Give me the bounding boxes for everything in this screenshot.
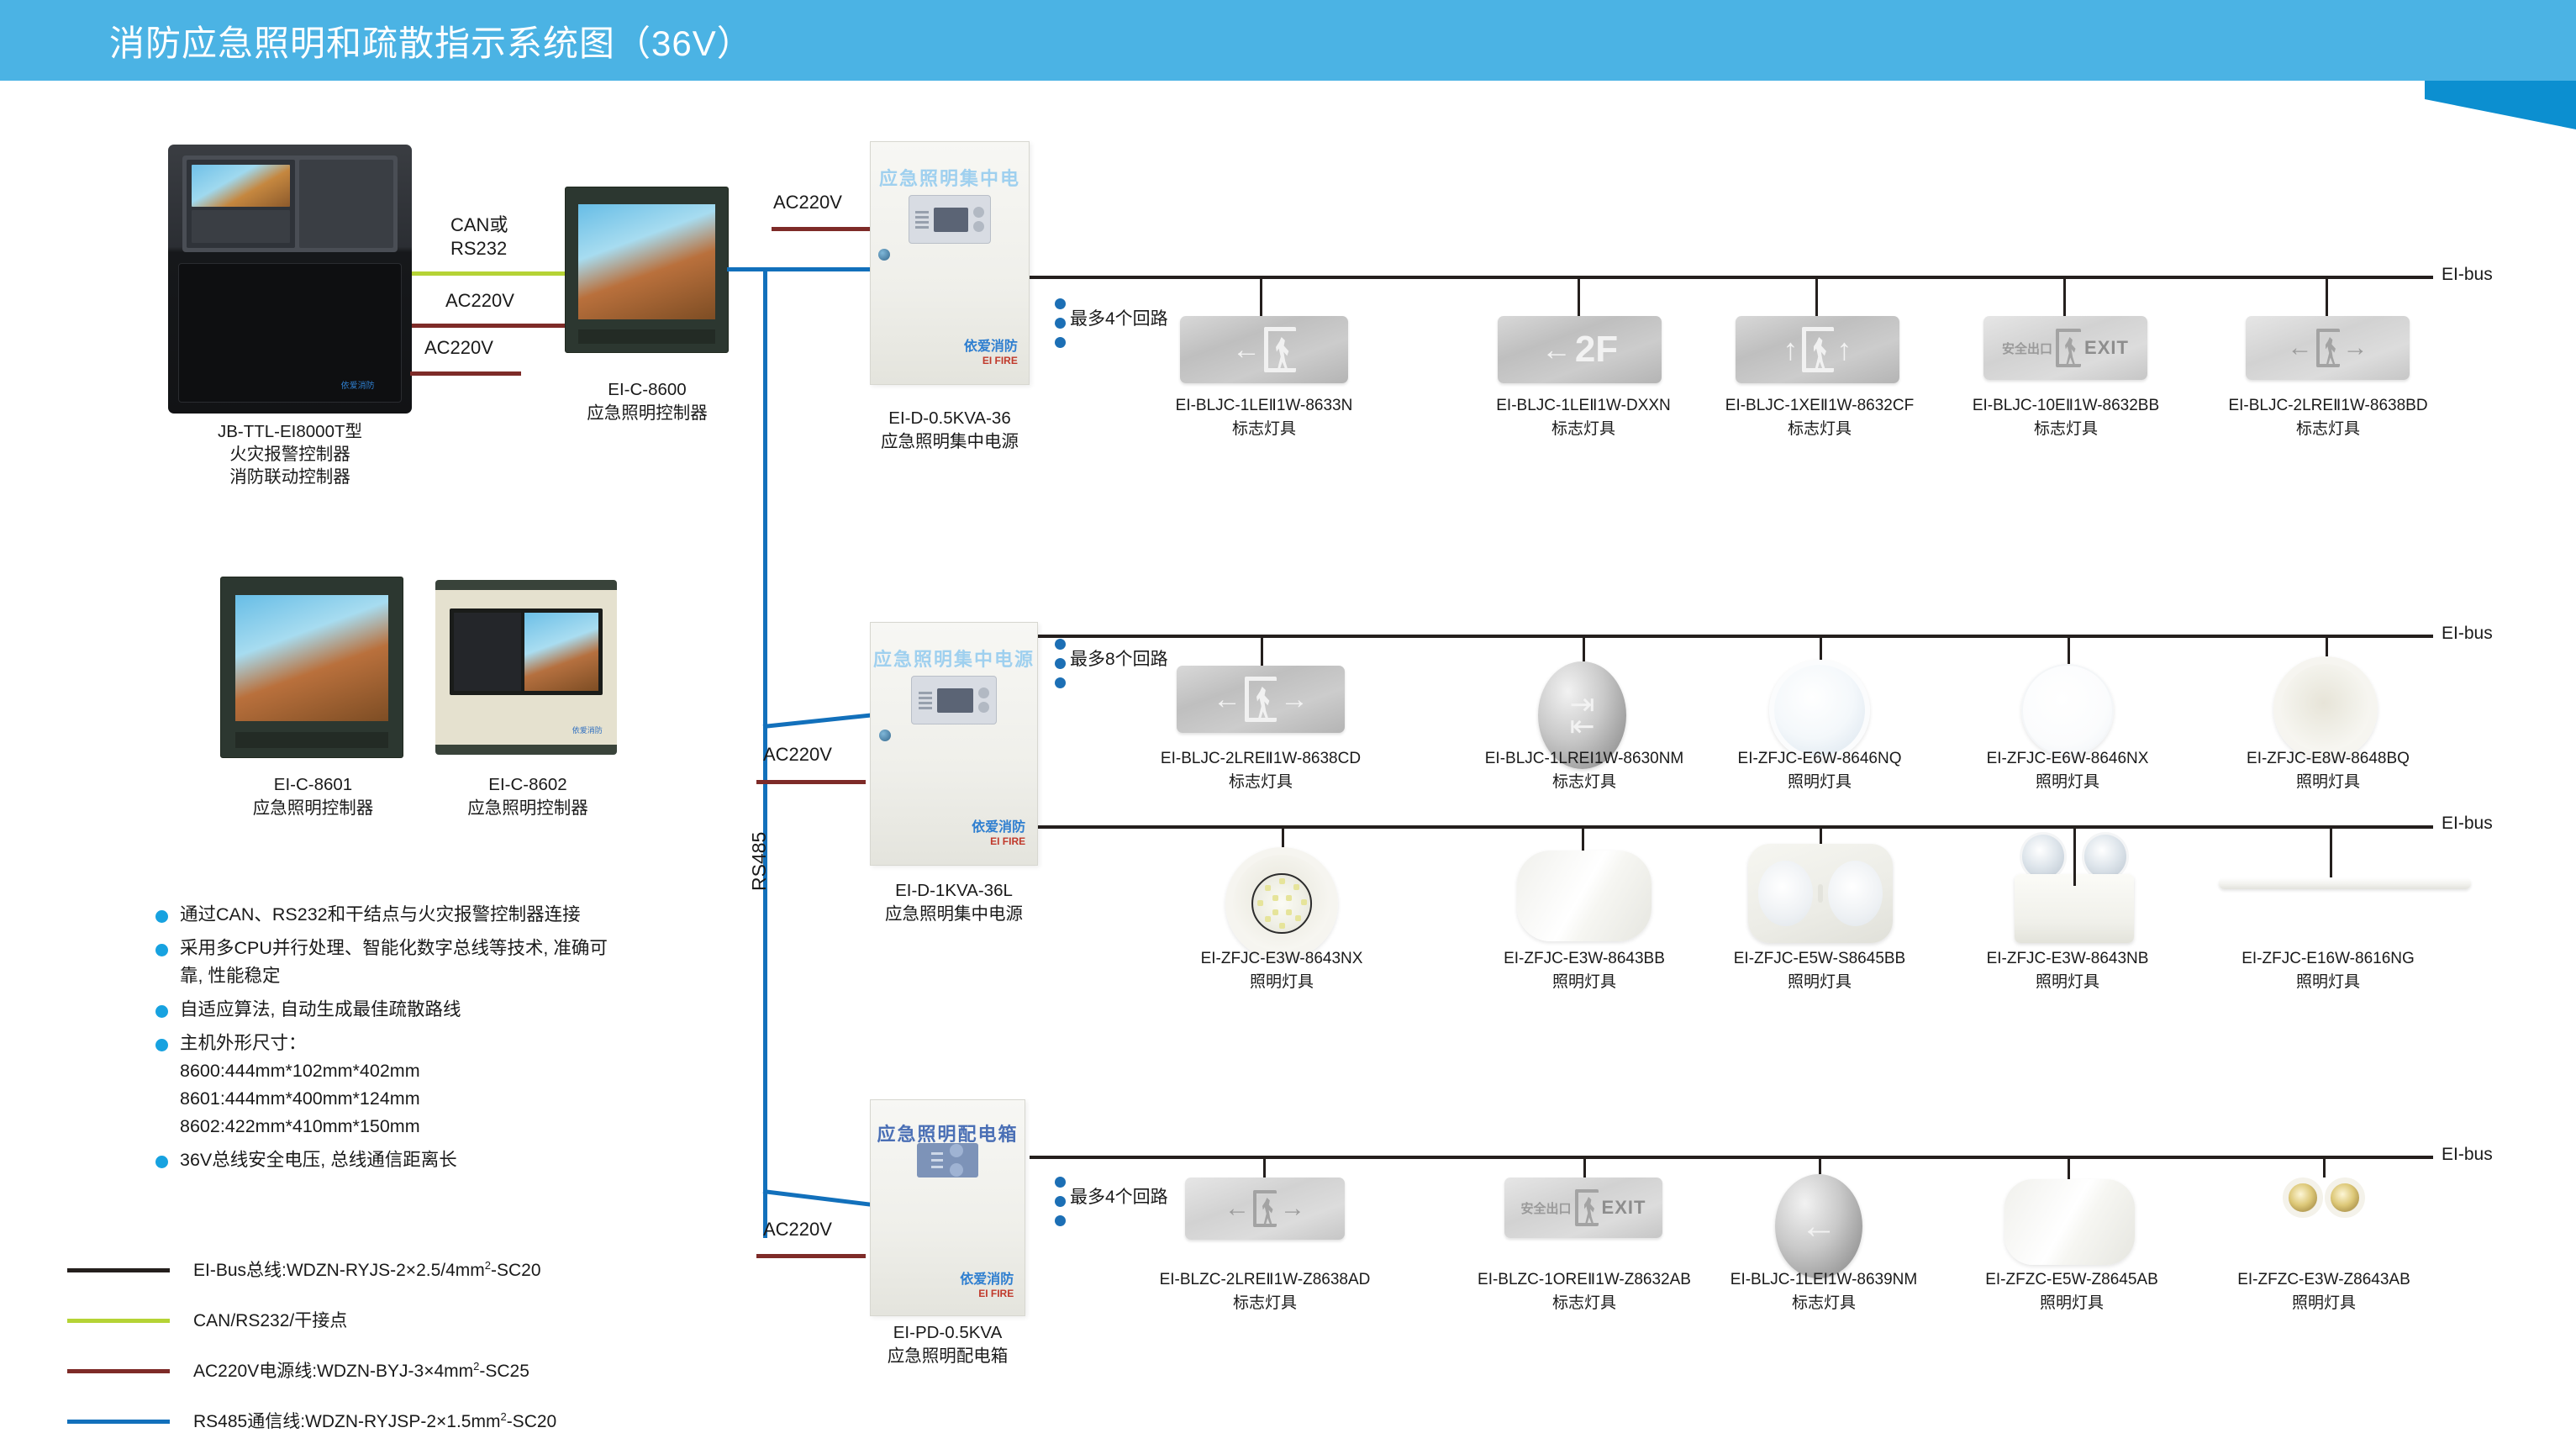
twin-eye-lamp-icon [1748, 844, 1893, 943]
controller-8600-screen [578, 204, 714, 319]
pd-button-group[interactable] [950, 1144, 963, 1177]
lamp-eye-right [1828, 861, 1883, 926]
drop-wire [2323, 1156, 2326, 1177]
fixture-row3-1-model: EI-ZFJC-E3W-8643NX [1147, 948, 1416, 970]
drop-wire [2068, 1156, 2070, 1179]
can-rs232-label-line2: RS232 [450, 238, 507, 260]
drop-wire [1583, 635, 1585, 661]
legend: EI-Bus总线:WDZN-RYJS-2×2.5/4mm2-SC20 CAN/R… [67, 1250, 824, 1433]
rs485-branch-ps2 [763, 713, 877, 729]
cabinet-module-bank [299, 160, 392, 248]
fixture-row4-5-type: 照明灯具 [2189, 1293, 2458, 1314]
gold-bulb-left [2283, 1177, 2323, 1218]
cabinet-keypad [192, 210, 290, 243]
brand-logo: 依爱消防 EI FIRE [964, 340, 1018, 367]
cabinet-upper-section [182, 155, 397, 252]
controller-8602-display [524, 613, 598, 691]
ei-bus-label-row3: EI-bus [2442, 814, 2493, 834]
ps2-control-face [911, 676, 998, 724]
legend-row-ei-bus: EI-Bus总线:WDZN-RYJS-2×2.5/4mm2-SC20 [67, 1250, 824, 1300]
legend-swatch-rs485 [67, 1420, 170, 1424]
drop-wire [2326, 635, 2328, 656]
exit-sign-safety-exit-icon: 安全出口 EXIT [1983, 316, 2147, 380]
fixture-row4-2-type: 标志灯具 [1441, 1293, 1727, 1314]
gold-bulb-right [2325, 1177, 2365, 1218]
drop-wire [2073, 825, 2076, 886]
legend-swatch-can [67, 1319, 170, 1323]
fixture-row2-5-model: EI-ZFJC-E8W-8648BQ [2194, 748, 2463, 770]
controller-8602-model: EI-C-8602 [427, 773, 629, 796]
fixture-row3-3-model: EI-ZFJC-E5W-S8645BB [1685, 948, 1954, 970]
drop-wire [2063, 276, 2066, 316]
drop-wire [2330, 825, 2332, 877]
pd-model: EI-PD-0.5KVA [857, 1321, 1038, 1344]
fixture-row4-1-model: EI-BLZC-2LREⅡ1W-Z8638AD [1122, 1269, 1408, 1291]
fixture-row4-4-type: 照明灯具 [1937, 1293, 2206, 1314]
drop-wire [1260, 276, 1262, 316]
feature-sub-8600: 8600:444mm*102mm*402mm [180, 1057, 710, 1085]
round-led-array-lamp-icon [1225, 847, 1338, 960]
emergency-power-supply-1kva: 应急照明集中电源 依爱消防 EI FIRE [870, 622, 1038, 866]
pd-led-group [931, 1152, 943, 1168]
fixture-row4-4-model: EI-ZFZC-E5W-Z8645AB [1937, 1269, 2206, 1291]
fixture-row1-2-model: EI-BLJC-1LEⅡ1W-DXXN [1449, 395, 1718, 417]
bullet-dot-icon [155, 1156, 168, 1168]
legend-swatch-ei-bus [67, 1268, 170, 1272]
ps1-control-face [909, 195, 991, 244]
pill-wall-lamp-icon [1517, 851, 1651, 941]
diagram-canvas: 消防应急照明和疏散指示系统图（36V） 依爱消防 JB-TTL-EI8000T型… [0, 0, 2576, 1433]
legend-text-pre: AC220V电源线:WDZN-BYJ-3×4mm [193, 1362, 473, 1381]
fixture-row2-5-type: 照明灯具 [2194, 772, 2463, 793]
feature-sub-8601: 8601:444mm*400mm*124mm [180, 1085, 710, 1113]
ribbon-decoration [2425, 81, 2576, 129]
exit-sign-both-arrows-icon: ← → [1185, 1177, 1345, 1240]
controller-8602-panel-face [450, 608, 602, 695]
legend-text-sup: 2 [485, 1259, 491, 1272]
brand-name-en: EI FIRE [990, 835, 1025, 847]
legend-text-post: -SC20 [491, 1261, 541, 1280]
loop-count-text: 最多4个回路 [1070, 305, 1168, 330]
pd-desc: 应急照明配电箱 [857, 1345, 1038, 1367]
feature-text-continued: 靠, 性能稳定 [180, 962, 710, 990]
brand-logo: 依爱消防 EI FIRE [972, 821, 1025, 848]
controller-8601-desc: 应急照明控制器 [210, 797, 416, 819]
fixture-row2-3-model: EI-ZFJC-E6W-8646NQ [1685, 748, 1954, 770]
ei-bus-label-row2: EI-bus [2442, 624, 2493, 644]
fire-panel-desc-2: 消防联动控制器 [168, 466, 412, 488]
exit-sign-both-arrows-icon: ← → [1177, 666, 1345, 733]
drop-wire [1815, 276, 1818, 316]
emergency-lighting-controller-8600 [565, 187, 729, 353]
feature-list: 通过CAN、RS232和干结点与火灾报警控制器连接 采用多CPU并行处理、智能化… [155, 901, 710, 1180]
ei-bus-line-row3 [1038, 825, 2433, 829]
emergency-lighting-distribution-box: 应急照明配电箱 依爱消防 EI FIRE [870, 1099, 1025, 1316]
controller-8601-model: EI-C-8601 [210, 773, 416, 796]
controller-8600-indicator-bar [578, 329, 714, 345]
ps2-lcd-screen [937, 688, 972, 713]
feature-text: 主机外形尺寸： [180, 1030, 710, 1057]
tube-lamp-icon [2219, 877, 2471, 889]
fixture-row4-5-model: EI-ZFZC-E3W-Z8643AB [2189, 1269, 2458, 1291]
fixture-row2-4-model: EI-ZFJC-E6W-8646NX [1933, 748, 2202, 770]
fixture-row4-3-model: EI-BLJC-1LEI1W-8639NM [1689, 1269, 1958, 1291]
ac220v-line-ps1 [772, 227, 881, 231]
ps2-face-title: 应急照明集中电源 [871, 645, 1037, 672]
legend-swatch-ac220v [67, 1369, 170, 1373]
fixture-row1-5-type: 标志灯具 [2194, 419, 2463, 440]
brand-name-cn: 依爱消防 [964, 340, 1018, 354]
legend-label-can: CAN/RS232/干接点 [193, 1307, 347, 1332]
ei-bus-label-row4: EI-bus [2442, 1145, 2493, 1165]
ps1-model: EI-D-0.5KVA-36 [857, 407, 1042, 429]
exit-sign-left-arrow-icon: ← [1180, 316, 1348, 383]
feature-text: 采用多CPU并行处理、智能化数字总线等技术, 准确可 [180, 935, 710, 962]
bullet-dot-icon [155, 944, 168, 956]
bullet-dot-icon [155, 1039, 168, 1051]
legend-text-pre: CAN/RS232/干接点 [193, 1311, 347, 1330]
drop-wire [1820, 635, 1822, 660]
emergency-power-supply-0p5kva: 应急照明集中电源 依爱消防 EI FIRE [870, 141, 1030, 385]
round-ceiling-lamp-icon [1769, 660, 1870, 761]
exit-sign-both-arrows-icon: ← → [2246, 316, 2410, 380]
fixture-row3-1-type: 照明灯具 [1147, 972, 1416, 993]
ps2-door-lock[interactable] [879, 730, 891, 741]
legend-label-ac220v: AC220V电源线:WDZN-BYJ-3×4mm2-SC25 [193, 1357, 529, 1383]
fixture-row1-3-type: 标志灯具 [1685, 419, 1954, 440]
fixture-row3-5-type: 照明灯具 [2194, 972, 2463, 993]
controller-8602-keypad [454, 613, 521, 691]
feature-sub-8602: 8602:422mm*410mm*150mm [180, 1113, 710, 1141]
page-title: 消防应急照明和疏散指示系统图（36V） [109, 15, 753, 66]
drop-wire [2068, 635, 2070, 664]
emergency-lighting-controller-8602: 依爱消防 [435, 580, 617, 755]
ps1-desc: 应急照明集中电源 [857, 430, 1042, 453]
controller-8602-desc: 应急照明控制器 [427, 797, 629, 819]
led-array [1251, 873, 1312, 934]
loop-count-text: 最多4个回路 [1070, 1183, 1168, 1209]
ei-bus-line-row1 [1030, 276, 2433, 279]
ps2-button-group[interactable] [978, 688, 989, 713]
fixture-row1-4-model: EI-BLJC-10EⅡ1W-8632BB [1931, 395, 2200, 417]
drop-wire [1820, 825, 1822, 844]
ac220v-line-8600 [412, 324, 567, 328]
controller-8601-indicator-bar [235, 732, 387, 748]
fixture-row2-1-type: 标志灯具 [1126, 772, 1395, 793]
ei-bus-line-row2 [1038, 635, 2433, 638]
bullet-dot-icon [155, 910, 168, 923]
controller-8601-screen [235, 595, 387, 721]
feature-item: 主机外形尺寸： 8600:444mm*102mm*402mm 8601:444m… [155, 1030, 710, 1141]
legend-row-ac220v: AC220V电源线:WDZN-BYJ-3×4mm2-SC25 [67, 1351, 824, 1401]
feature-text: 通过CAN、RS232和干结点与火灾报警控制器连接 [180, 901, 710, 929]
brand-logo: 依爱消防 [341, 378, 375, 391]
fixture-row2-2-type: 标志灯具 [1450, 772, 1719, 793]
bullet-dot-icon [155, 1005, 168, 1018]
ac220v-label-8600: AC220V [445, 290, 514, 312]
feature-item: 采用多CPU并行处理、智能化数字总线等技术, 准确可 靠, 性能稳定 [155, 935, 710, 990]
legend-label-rs485: RS485通信线:WDZN-RYJSP-2×1.5mm2-SC20 [193, 1408, 556, 1433]
fixture-row1-1-model: EI-BLJC-1LEⅡ1W-8633N [1130, 395, 1399, 417]
exit-sign-up-arrows-icon: ↑ ↑ [1736, 316, 1899, 383]
feature-text: 自适应算法, 自动生成最佳疏散路线 [180, 996, 710, 1024]
fixture-row3-4-model: EI-ZFJC-E3W-8643NB [1933, 948, 2202, 970]
feature-text: 36V总线安全电压, 总线通信距离长 [180, 1146, 710, 1174]
controller-8600-desc: 应急照明控制器 [546, 402, 748, 424]
feature-item: 自适应算法, 自动生成最佳疏散路线 [155, 996, 710, 1024]
fixture-row2-3-type: 照明灯具 [1685, 772, 1954, 793]
round-flat-lamp-icon [2021, 664, 2114, 756]
ps2-model: EI-D-1KVA-36L [853, 879, 1055, 902]
lamp-center-button [1818, 884, 1823, 903]
rs485-branch-pd [763, 1189, 877, 1207]
legend-text-post: -SC25 [479, 1362, 529, 1381]
fixture-row1-2-type: 标志灯具 [1449, 419, 1718, 440]
legend-text-pre: RS485通信线:WDZN-RYJSP-2×1.5mm [193, 1412, 500, 1431]
legend-row-can: CAN/RS232/干接点 [67, 1300, 824, 1351]
brand-logo: 依爱消防 EI FIRE [960, 1273, 1014, 1300]
fire-panel-model: JB-TTL-EI8000T型 [168, 420, 412, 443]
fire-alarm-control-cabinet: 依爱消防 [168, 145, 412, 414]
feature-item: 通过CAN、RS232和干结点与火灾报警控制器连接 [155, 901, 710, 929]
feature-item: 36V总线安全电压, 总线通信距离长 [155, 1146, 710, 1174]
drop-wire [1582, 825, 1584, 851]
brand-name-en: EI FIRE [982, 355, 1018, 366]
pd-control-face [917, 1143, 978, 1177]
drop-wire [1261, 635, 1263, 666]
controller-8600-model: EI-C-8600 [546, 378, 748, 401]
ps1-lcd-screen [934, 208, 967, 232]
ac220v-line-ps2 [756, 780, 866, 784]
drop-wire [1282, 825, 1284, 847]
fixture-row4-1-type: 标志灯具 [1122, 1293, 1408, 1314]
fixture-row4-2-model: EI-BLZC-1OREⅡ1W-Z8632AB [1441, 1269, 1727, 1291]
ac220v-label-pd: AC220V [763, 1219, 832, 1241]
drop-wire [2326, 276, 2328, 316]
ei-bus-label-row1: EI-bus [2442, 265, 2493, 285]
ps2-led-group [919, 692, 932, 709]
emergency-lighting-controller-8601 [220, 577, 403, 758]
ps1-led-group [915, 211, 929, 229]
ei-bus-line-row4 [1030, 1156, 2433, 1159]
legend-text-sup: 2 [500, 1410, 506, 1423]
rs485-branch-ps1 [763, 267, 877, 271]
fixture-row2-1-model: EI-BLJC-2LREⅡ1W-8638CD [1126, 748, 1395, 770]
ps2-desc: 应急照明集中电源 [853, 903, 1055, 925]
brand-name-cn: 依爱消防 [972, 820, 1025, 835]
ps1-door-lock[interactable] [878, 249, 890, 261]
exit-sign-left-2f-icon: ← 2F [1498, 316, 1662, 383]
fire-panel-desc-1: 火灾报警控制器 [168, 443, 412, 466]
fixture-row3-4-type: 照明灯具 [1933, 972, 2202, 993]
legend-label-ei-bus: EI-Bus总线:WDZN-RYJS-2×2.5/4mm2-SC20 [193, 1257, 541, 1282]
fixture-row3-2-model: EI-ZFJC-E3W-8643BB [1450, 948, 1719, 970]
fixture-row3-2-type: 照明灯具 [1450, 972, 1719, 993]
fixture-row4-3-type: 标志灯具 [1689, 1293, 1958, 1314]
rs485-trunk-label: RS485 [748, 832, 771, 891]
ac220v-label-ps1: AC220V [773, 192, 842, 213]
oval-sign-left-arrow-icon: ← [1775, 1174, 1862, 1278]
fixture-row2-2-model: EI-BLJC-1LREⅠ1W-8630NM [1450, 748, 1719, 770]
drop-wire [1263, 1156, 1266, 1177]
fixture-row1-3-model: EI-BLJC-1XEⅡ1W-8632CF [1685, 395, 1954, 417]
can-rs232-line [412, 271, 567, 276]
legend-text-post: -SC20 [507, 1412, 557, 1431]
ac220v-label-ps2: AC220V [763, 744, 832, 766]
drop-wire [1578, 276, 1580, 316]
fixture-row3-5-model: EI-ZFJC-E16W-8616NG [2194, 948, 2463, 970]
legend-text-pre: EI-Bus总线:WDZN-RYJS-2×2.5/4mm [193, 1261, 485, 1280]
loop-count-text: 最多8个回路 [1070, 645, 1168, 671]
fixture-row1-4-type: 标志灯具 [1931, 419, 2200, 440]
brand-logo: 依爱消防 [572, 724, 603, 735]
ps1-button-group[interactable] [973, 207, 984, 232]
brand-name-cn: 依爱消防 [960, 1272, 1014, 1287]
lamp-eye-left [1758, 861, 1813, 926]
fixture-row1-1-type: 标志灯具 [1130, 419, 1399, 440]
gold-twin-lamp-icon [2261, 1177, 2387, 1262]
fixture-row2-4-type: 照明灯具 [1933, 772, 2202, 793]
can-rs232-label-line1: CAN或 [450, 210, 508, 237]
brand-name-en: EI FIRE [978, 1288, 1014, 1299]
cabinet-screen-image [192, 165, 290, 207]
legend-row-rs485: RS485通信线:WDZN-RYJSP-2×1.5mm2-SC20 [67, 1401, 824, 1433]
round-recessed-lamp-icon [2273, 656, 2378, 761]
drop-wire [1819, 1156, 1821, 1174]
cabinet-display-module [187, 160, 295, 248]
pill-wall-lamp-icon [2004, 1179, 2135, 1265]
cabinet-lower-door: 依爱消防 [178, 263, 403, 403]
ac220v-label-firepanel: AC220V [424, 337, 493, 359]
drop-wire [1583, 1156, 1586, 1177]
exit-sign-safety-exit-icon: 安全出口 EXIT [1504, 1177, 1662, 1238]
fixture-row3-3-type: 照明灯具 [1685, 972, 1954, 993]
ac220v-line-firepanel [410, 371, 521, 376]
fixture-row1-5-model: EI-BLJC-2LREⅡ1W-8638BD [2194, 395, 2463, 417]
